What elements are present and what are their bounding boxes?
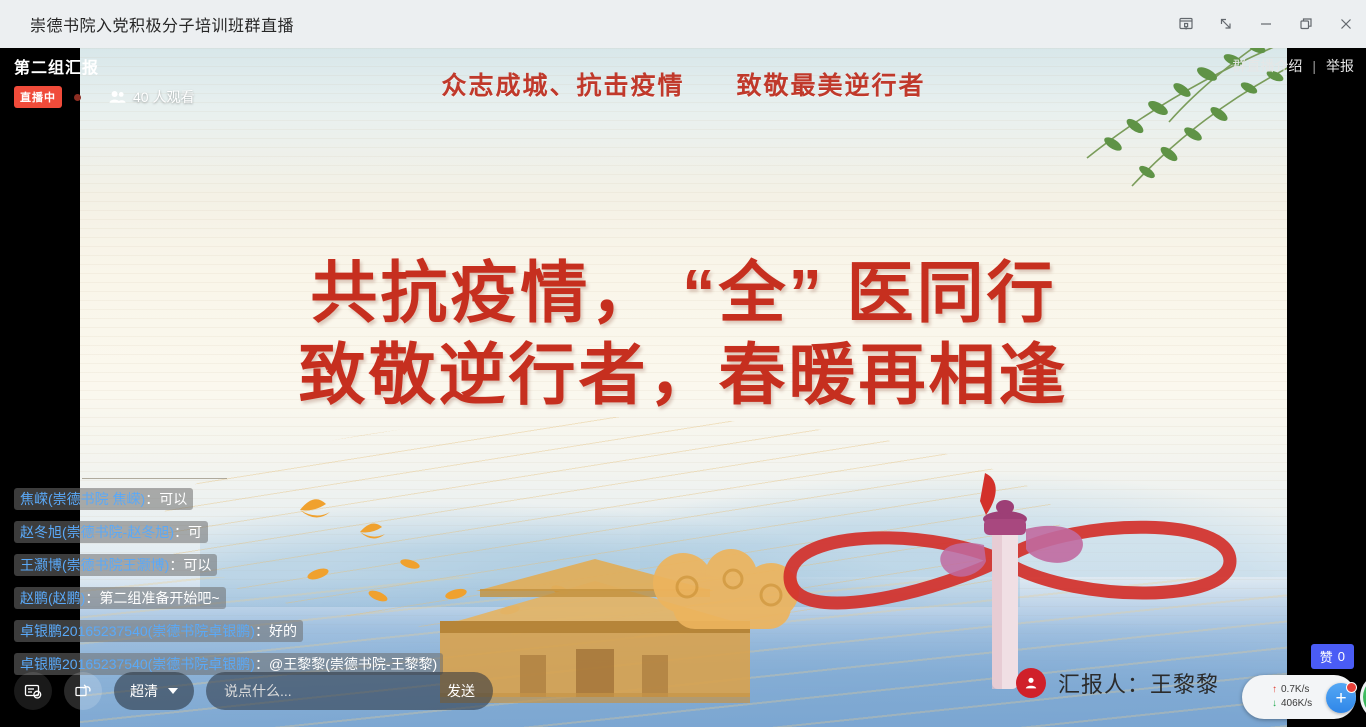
app-root: 崇德书院入党积极分子培训班群直播 [0, 0, 1366, 727]
slide-banner-right: 致敬最美逆行者 [736, 72, 925, 100]
viewer-count-label: 40 人观看 [133, 87, 194, 107]
download-speed-row: ↓ 406K/s [1272, 697, 1312, 711]
live-intro-link[interactable]: 群直播介绍 [1232, 56, 1302, 76]
window-title: 崇德书院入党积极分子培训班群直播 [30, 12, 294, 36]
chat-body: 好的 [269, 623, 297, 639]
status-badge: 直播中 [14, 86, 62, 108]
chat-body: 可 [188, 524, 202, 540]
download-arrow-icon: ↓ [1272, 697, 1277, 711]
viewer-count: 40 人观看 [109, 87, 194, 107]
chat-input-box[interactable]: 发送 [206, 672, 493, 710]
quality-selector[interactable]: 超清 [114, 672, 194, 710]
report-link[interactable]: 举报 [1326, 56, 1354, 76]
slide-headline: 共抗疫情， “全” 医同行 致敬逆行者，春暖再相逢 [80, 253, 1287, 416]
live-room-title: 第二组汇报 [14, 54, 194, 78]
slide-headline-line1: 共抗疫情， “全” 医同行 [80, 253, 1287, 335]
live-toolbar: 超清 发送 [0, 655, 1366, 727]
live-stage: 众志成城、抗击疫情 致敬最美逆行者 共抗疫情， “全” 医同行 致敬逆行者，春暖… [0, 48, 1366, 727]
chat-separator: ： [169, 557, 183, 573]
screen-rotate-icon[interactable] [64, 672, 102, 710]
chat-sender: 赵鹏(赵鹏) [20, 590, 85, 606]
chat-separator: ： [145, 491, 159, 507]
link-separator: | [1312, 58, 1316, 74]
download-speed-value: 406K/s [1281, 697, 1312, 711]
chat-sender: 王灏博(崇德书院王灏博) [20, 557, 169, 573]
upload-speed-row: ↑ 0.7K/s [1272, 683, 1312, 697]
chat-sender: 赵冬旭(崇德书院-赵冬旭) [20, 524, 174, 540]
quality-label: 超清 [130, 681, 158, 701]
chat-input[interactable] [224, 683, 437, 699]
window-controls [1166, 0, 1366, 48]
chat-sender: 焦嵘(崇德书院 焦嵘) [20, 491, 145, 507]
restore-size-icon[interactable] [1206, 0, 1246, 48]
minimize-icon[interactable] [1246, 0, 1286, 48]
chat-message: 王灏博(崇德书院王灏博)：可以 [14, 554, 217, 576]
chat-separator: ： [255, 623, 269, 639]
close-icon[interactable] [1326, 0, 1366, 48]
upload-arrow-icon: ↑ [1272, 683, 1277, 697]
window-titlebar: 崇德书院入党积极分子培训班群直播 [0, 0, 1366, 48]
chat-separator: ： [85, 590, 99, 606]
chat-body: 第二组准备开始吧~ [99, 590, 219, 606]
like-label: 赞 [1320, 647, 1333, 666]
live-status-row: 直播中 40 人观看 [14, 86, 194, 108]
chat-separator: ： [174, 524, 188, 540]
network-speed-rows: ↑ 0.7K/s ↓ 406K/s [1272, 683, 1312, 711]
chat-message: 赵冬旭(崇德书院-赵冬旭)：可 [14, 521, 208, 543]
pin-window-icon[interactable] [1166, 0, 1206, 48]
chat-message: 焦嵘(崇德书院 焦嵘)：可以 [14, 488, 193, 510]
send-button[interactable]: 发送 [447, 681, 475, 701]
chat-divider [82, 478, 227, 479]
chat-message: 赵鹏(赵鹏)：第二组准备开始吧~ [14, 587, 226, 609]
slide-headline-line2: 致敬逆行者，春暖再相逢 [80, 335, 1287, 417]
chat-body: 可以 [159, 491, 187, 507]
chevron-down-icon [168, 688, 178, 694]
like-button[interactable]: 赞 0 [1311, 644, 1354, 669]
like-count: 0 [1338, 649, 1345, 664]
chat-body: 可以 [183, 557, 211, 573]
chat-message: 卓银鹏20165237540(崇德书院卓银鹏)：好的 [14, 620, 303, 642]
add-accelerator-button[interactable]: + [1326, 683, 1356, 713]
clipboard-check-icon[interactable] [14, 672, 52, 710]
live-overlay-links: 群直播介绍 | 举报 [1232, 56, 1354, 76]
live-room-header: 第二组汇报 直播中 40 人观看 [14, 54, 194, 108]
slide-banner-left: 众志成城、抗击疫情 [442, 72, 685, 100]
chat-sender: 卓银鹏20165237540(崇德书院卓银鹏) [20, 623, 255, 639]
viewers-icon [109, 90, 126, 104]
recording-dot-icon [74, 94, 81, 101]
slide-banner: 众志成城、抗击疫情 致敬最美逆行者 [80, 66, 1287, 102]
plus-icon: + [1335, 689, 1346, 708]
maximize-icon[interactable] [1286, 0, 1326, 48]
upload-speed-value: 0.7K/s [1281, 683, 1309, 697]
